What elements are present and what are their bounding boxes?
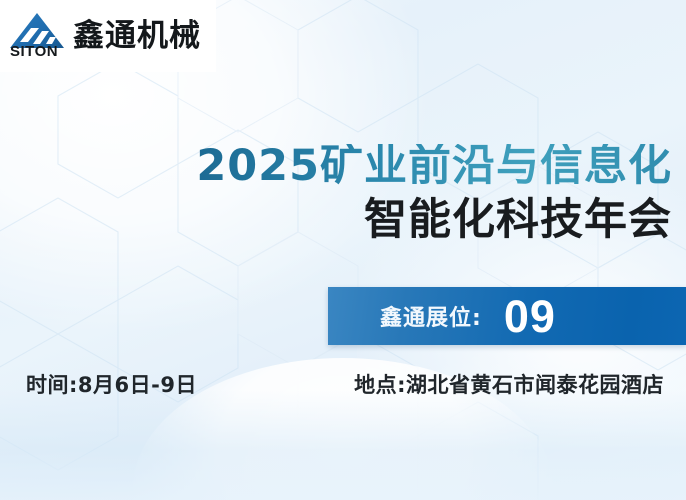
headline-line-2: 智能化科技年会 — [0, 198, 672, 243]
event-place: 地点:湖北省黄石市闻泰花园酒店 — [354, 369, 664, 399]
booth-number-banner: 鑫通展位: 09 — [328, 287, 686, 345]
brand-logo: SITON 鑫通机械 — [0, 0, 216, 72]
background-bottom-tint — [0, 390, 686, 500]
event-info-row: 时间:8月6日-9日 地点:湖北省黄石市闻泰花园酒店 — [26, 369, 664, 399]
siton-mountain-logo-icon: SITON — [9, 11, 67, 61]
hexagon-pattern — [0, 0, 686, 500]
event-poster: SITON 鑫通机械 2025矿业前沿与信息化 智能化科技年会 鑫通展位: 09… — [0, 0, 686, 500]
booth-label: 鑫通展位: — [380, 300, 482, 332]
logo-latin-text: SITON — [10, 43, 58, 60]
booth-number: 09 — [504, 294, 556, 339]
poster-headline: 2025矿业前沿与信息化 智能化科技年会 — [0, 144, 672, 243]
headline-line-1: 2025矿业前沿与信息化 — [0, 144, 672, 189]
event-time: 时间:8月6日-9日 — [26, 369, 197, 399]
logo-chinese-text: 鑫通机械 — [73, 21, 201, 52]
